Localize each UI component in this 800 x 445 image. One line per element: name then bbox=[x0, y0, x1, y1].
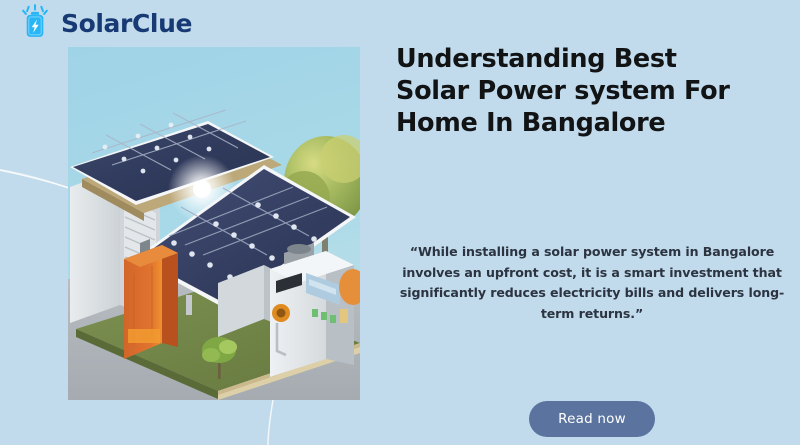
article-content: Understanding Best Solar Power system Fo… bbox=[392, 0, 792, 445]
brand-name: SolarClue bbox=[61, 11, 192, 36]
pull-quote: “While installing a solar power system i… bbox=[398, 242, 786, 324]
cta-container: Read now bbox=[392, 401, 792, 437]
solar-house-scene bbox=[68, 47, 360, 400]
battery-bolt-icon bbox=[16, 4, 54, 42]
read-now-button[interactable]: Read now bbox=[529, 401, 655, 437]
brand-logo[interactable]: SolarClue bbox=[16, 4, 192, 42]
page-title: Understanding Best Solar Power system Fo… bbox=[396, 43, 756, 139]
hero-illustration bbox=[68, 47, 360, 400]
